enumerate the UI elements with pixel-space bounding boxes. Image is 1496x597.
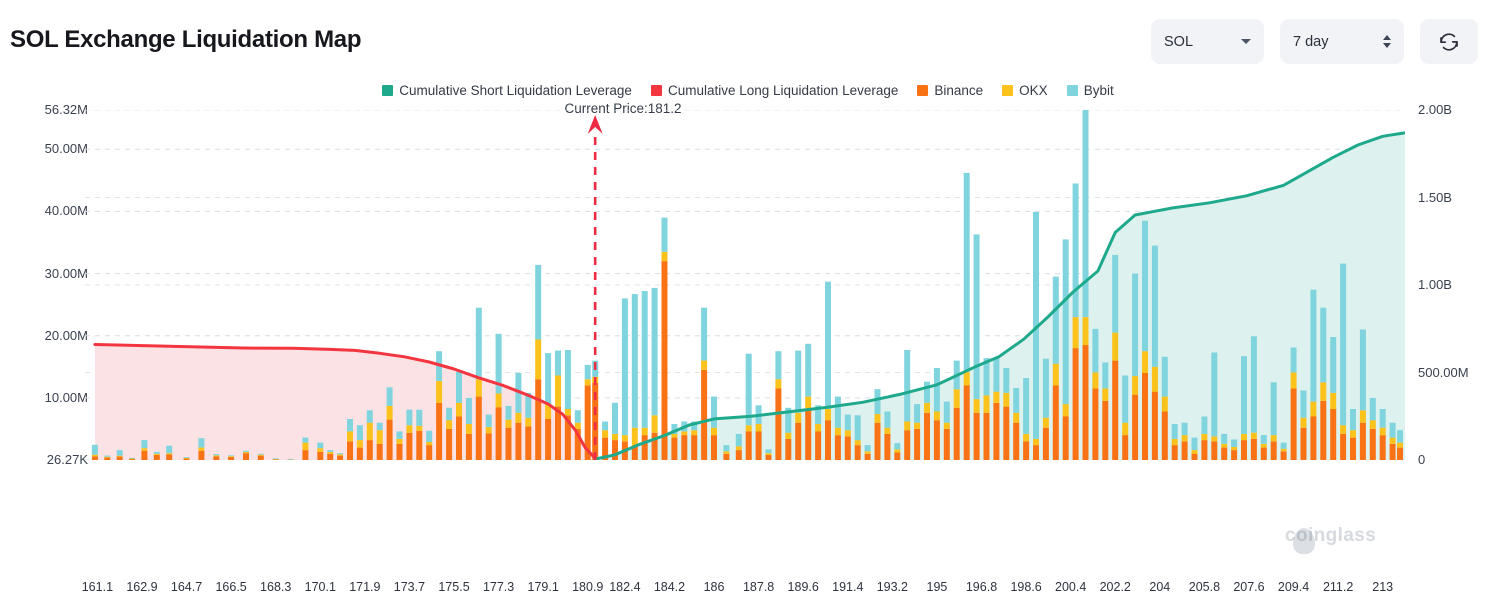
x-tick: 186 xyxy=(704,580,725,594)
bar-segment-binance xyxy=(436,403,442,460)
bar-segment-binance xyxy=(701,370,707,460)
bar-segment-okx xyxy=(805,397,811,409)
bar-segment-okx xyxy=(104,457,110,458)
bar-segment-bybit xyxy=(775,351,781,379)
bar-segment-binance xyxy=(1291,389,1297,461)
bar-segment-binance xyxy=(486,433,492,460)
bar-segment-binance xyxy=(845,436,851,460)
bar-segment-okx xyxy=(1360,410,1366,422)
bar-segment-okx xyxy=(845,430,851,436)
bar-segment-okx xyxy=(1122,423,1128,435)
bar-segment-okx xyxy=(1320,382,1326,401)
legend-swatch-icon xyxy=(917,85,928,96)
bar-segment-binance xyxy=(1023,441,1029,460)
bar-segment-binance xyxy=(1063,417,1069,461)
bar-segment-bybit xyxy=(632,294,638,428)
bar-segment-okx xyxy=(387,406,393,420)
bar-segment-bybit xyxy=(1251,336,1257,432)
bar-segment-binance xyxy=(397,444,403,460)
bar-segment-okx xyxy=(184,458,190,459)
bar-segment-binance xyxy=(426,445,432,460)
bar-segment-bybit xyxy=(1102,362,1108,388)
bar-segment-okx xyxy=(865,451,871,454)
bar-segment-bybit xyxy=(855,415,861,440)
bar-segment-okx xyxy=(701,361,707,370)
bar-segment-binance xyxy=(1241,440,1247,460)
bar-segment-okx xyxy=(691,430,697,435)
bar-segment-okx xyxy=(1182,435,1188,441)
legend-label: Bybit xyxy=(1084,83,1114,98)
bar-segment-binance xyxy=(1033,445,1039,460)
bar-segment-binance xyxy=(671,438,677,460)
bar-segment-binance xyxy=(691,435,697,460)
bar-segment-okx xyxy=(1192,450,1198,454)
time-range-spinner[interactable]: 7 day xyxy=(1280,19,1404,64)
bar-segment-binance xyxy=(894,453,900,461)
bar-segment-okx xyxy=(984,395,990,412)
symbol-select[interactable]: SOL xyxy=(1151,19,1264,64)
bar-segment-okx xyxy=(1201,434,1207,440)
x-tick: 179.1 xyxy=(528,580,559,594)
bar-segment-okx xyxy=(746,425,752,431)
bar-segment-binance xyxy=(515,423,521,460)
bar-segment-binance xyxy=(964,385,970,460)
bar-segment-bybit xyxy=(198,438,204,447)
bar-segment-okx xyxy=(198,448,204,451)
bar-segment-bybit xyxy=(642,291,648,428)
bar-segment-binance xyxy=(1192,454,1198,460)
x-tick: 166.5 xyxy=(215,580,246,594)
x-tick: 187.8 xyxy=(743,580,774,594)
bar-segment-binance xyxy=(875,423,881,460)
liquidation-map-page: SOL Exchange Liquidation Map SOL 7 day xyxy=(0,0,1496,597)
bar-segment-binance xyxy=(944,429,950,460)
bar-segment-binance xyxy=(766,455,772,460)
y-right-tick: 0 xyxy=(1418,452,1425,467)
bar-segment-okx xyxy=(397,439,403,444)
bar-segment-bybit xyxy=(302,438,308,443)
bar-segment-bybit xyxy=(1132,274,1138,377)
bar-segment-binance xyxy=(984,413,990,460)
bar-segment-bybit xyxy=(1330,337,1336,393)
bar-segment-bybit xyxy=(1192,438,1198,450)
bar-segment-binance xyxy=(1271,441,1277,460)
bar-segment-bybit xyxy=(243,451,249,452)
bar-segment-binance xyxy=(1350,438,1356,460)
bar-segment-binance xyxy=(865,454,871,460)
bar-segment-binance xyxy=(506,428,512,460)
bar-segment-binance xyxy=(1301,428,1307,460)
bar-segment-bybit xyxy=(184,457,190,458)
bar-segment-bybit xyxy=(506,406,512,420)
bar-segment-bybit xyxy=(1301,390,1307,417)
bar-segment-binance xyxy=(1221,448,1227,460)
y-right-tick: 2.00B xyxy=(1418,102,1452,117)
bar-segment-bybit xyxy=(1390,423,1396,438)
bar-segment-binance xyxy=(198,451,204,460)
bar-segment-okx xyxy=(671,434,677,438)
bar-segment-bybit xyxy=(406,410,412,426)
bar-segment-okx xyxy=(1301,418,1307,428)
bar-segment-binance xyxy=(1073,348,1079,460)
bar-segment-okx xyxy=(954,389,960,408)
bar-segment-okx xyxy=(681,431,687,435)
bar-segment-okx xyxy=(406,425,412,433)
x-tick: 191.4 xyxy=(832,580,863,594)
liquidation-plot xyxy=(85,110,1405,460)
x-tick: 196.8 xyxy=(966,580,997,594)
bar-segment-binance xyxy=(805,409,811,460)
bar-segment-okx xyxy=(1092,372,1098,388)
bar-segment-binance xyxy=(815,431,821,460)
x-tick: 161.1 xyxy=(82,580,113,594)
bar-segment-bybit xyxy=(416,410,422,426)
bar-segment-binance xyxy=(993,403,999,460)
legend-label: Cumulative Long Liquidation Leverage xyxy=(668,83,898,98)
bar-segment-binance xyxy=(104,458,110,461)
legend-item-2[interactable]: Binance xyxy=(917,83,983,98)
bar-segment-okx xyxy=(535,339,541,379)
bar-segment-binance xyxy=(92,456,98,460)
bar-segment-bybit xyxy=(387,387,393,406)
bar-segment-binance xyxy=(1330,409,1336,460)
bar-segment-bybit xyxy=(466,398,472,424)
bar-segment-binance xyxy=(337,456,343,460)
spinner-up-icon[interactable] xyxy=(1383,35,1391,40)
bar-segment-bybit xyxy=(397,431,403,439)
bar-segment-bybit xyxy=(1063,239,1069,404)
bar-segment-bybit xyxy=(337,453,343,454)
bar-segment-bybit xyxy=(1221,434,1227,444)
bar-segment-binance xyxy=(775,389,781,461)
bar-segment-binance xyxy=(154,455,160,460)
bar-segment-okx xyxy=(1221,444,1227,448)
x-tick: 184.2 xyxy=(654,580,685,594)
bar-segment-bybit xyxy=(535,265,541,340)
bar-segment-okx xyxy=(993,392,999,403)
x-tick: 177.3 xyxy=(483,580,514,594)
bar-segment-okx xyxy=(914,423,920,429)
bar-segment-okx xyxy=(1043,418,1049,428)
bar-segment-binance xyxy=(377,444,383,460)
bar-segment-okx xyxy=(585,379,591,385)
bar-segment-binance xyxy=(317,452,323,460)
bar-segment-binance xyxy=(1003,407,1009,460)
bar-segment-bybit xyxy=(914,404,920,423)
bar-segment-okx xyxy=(964,372,970,386)
x-tick: 204 xyxy=(1149,580,1170,594)
bar-segment-bybit xyxy=(766,449,772,453)
bar-segment-binance xyxy=(1053,385,1059,460)
bar-segment-okx xyxy=(662,252,668,261)
bar-segment-okx xyxy=(602,430,608,438)
bar-segment-binance xyxy=(746,431,752,460)
bar-segment-okx xyxy=(612,434,618,440)
y-left-tick: 20.00M xyxy=(45,328,88,343)
bar-segment-binance xyxy=(166,454,172,460)
bar-segment-bybit xyxy=(1083,110,1089,317)
bar-segment-binance xyxy=(1360,423,1366,460)
bar-segment-okx xyxy=(476,379,482,396)
bar-segment-okx xyxy=(496,394,502,408)
bar-segment-okx xyxy=(1380,428,1386,436)
bar-segment-binance xyxy=(525,426,531,460)
bar-segment-bybit xyxy=(1211,353,1217,437)
bar-segment-okx xyxy=(1350,430,1356,438)
bar-segment-bybit xyxy=(652,288,658,415)
bar-segment-binance xyxy=(1201,440,1207,460)
bar-segment-okx xyxy=(1023,434,1029,442)
bar-segment-okx xyxy=(1152,367,1158,392)
bar-segment-okx xyxy=(515,413,521,423)
bar-segment-binance xyxy=(795,423,801,460)
bar-segment-bybit xyxy=(104,456,110,457)
bar-segment-binance xyxy=(1211,441,1217,460)
bar-segment-binance xyxy=(117,457,123,460)
bar-segment-bybit xyxy=(964,173,970,372)
bar-segment-binance xyxy=(855,445,861,460)
bar-segment-bybit xyxy=(1142,221,1148,352)
bar-segment-okx xyxy=(1102,389,1108,401)
bar-segment-bybit xyxy=(1112,255,1118,333)
bar-segment-okx xyxy=(711,428,717,436)
bar-segment-binance xyxy=(642,435,648,460)
legend-label: Cumulative Short Liquidation Leverage xyxy=(399,83,632,98)
bar-segment-okx xyxy=(1132,376,1138,395)
bar-segment-bybit xyxy=(701,308,707,361)
bar-segment-binance xyxy=(1092,389,1098,461)
legend-item-1[interactable]: Cumulative Long Liquidation Leverage xyxy=(651,83,898,98)
bar-segment-binance xyxy=(367,440,373,460)
x-tick: 168.3 xyxy=(260,580,291,594)
bar-segment-binance xyxy=(904,430,910,460)
coinglass-logo-icon xyxy=(1293,528,1315,554)
legend-swatch-icon xyxy=(382,85,393,96)
bar-segment-okx xyxy=(642,428,648,436)
bar-segment-okx xyxy=(327,452,333,454)
bar-segment-bybit xyxy=(1092,329,1098,373)
bar-segment-binance xyxy=(1370,429,1376,460)
bar-segment-bybit xyxy=(1281,443,1287,449)
bar-segment-bybit xyxy=(1380,409,1386,428)
bar-segment-okx xyxy=(555,376,561,407)
bar-segment-bybit xyxy=(273,458,279,459)
bar-segment-okx xyxy=(1003,393,1009,407)
bar-segment-binance xyxy=(662,261,668,460)
bar-segment-okx xyxy=(1073,317,1079,348)
bar-segment-okx xyxy=(1162,397,1168,412)
bar-segment-okx xyxy=(228,456,234,457)
bar-segment-binance xyxy=(835,435,841,460)
bar-segment-binance xyxy=(681,435,687,460)
bar-segment-binance xyxy=(466,434,472,460)
bar-segment-binance xyxy=(1231,450,1237,460)
legend-swatch-icon xyxy=(1002,85,1013,96)
y-left-tick: 26.27K xyxy=(47,452,88,467)
bar-segment-okx xyxy=(575,423,581,429)
bar-segment-okx xyxy=(894,449,900,452)
bar-segment-okx xyxy=(934,412,940,421)
bar-segment-binance xyxy=(1182,441,1188,460)
bar-segment-bybit xyxy=(377,423,383,431)
bar-segment-bybit xyxy=(805,344,811,397)
watermark: coinglass xyxy=(1285,525,1376,547)
bar-segment-okx xyxy=(416,426,422,431)
bar-segment-bybit xyxy=(92,445,98,455)
legend-item-3[interactable]: OKX xyxy=(1002,83,1048,98)
bar-segment-bybit xyxy=(795,351,801,413)
bar-segment-okx xyxy=(258,455,264,456)
x-tick: 173.7 xyxy=(394,580,425,594)
bar-segment-bybit xyxy=(1122,376,1128,423)
bar-segment-okx xyxy=(117,456,123,457)
time-range-value: 7 day xyxy=(1293,34,1328,50)
legend-item-0[interactable]: Cumulative Short Liquidation Leverage xyxy=(382,83,632,98)
x-tick: 189.6 xyxy=(788,580,819,594)
chevron-down-icon xyxy=(1241,39,1251,44)
bar-segment-bybit xyxy=(865,445,871,451)
bar-segment-binance xyxy=(1320,401,1326,460)
bar-segment-okx xyxy=(1211,436,1217,441)
bar-segment-okx xyxy=(317,448,323,452)
bar-segment-binance xyxy=(756,431,762,460)
bar-segment-binance xyxy=(1281,451,1287,460)
bar-segment-okx xyxy=(141,448,147,451)
bar-segment-bybit xyxy=(1370,398,1376,420)
bar-segment-binance xyxy=(213,456,219,460)
bar-segment-bybit xyxy=(1201,417,1207,434)
refresh-button[interactable] xyxy=(1420,19,1478,64)
bar-segment-bybit xyxy=(456,372,462,403)
bar-segment-binance xyxy=(357,448,363,460)
bar-segment-binance xyxy=(974,413,980,460)
y-left-tick: 10.00M xyxy=(45,390,88,405)
bar-segment-bybit xyxy=(426,431,432,442)
legend-item-4[interactable]: Bybit xyxy=(1067,83,1114,98)
bar-segment-okx xyxy=(1063,404,1069,416)
bar-segment-binance xyxy=(612,440,618,460)
bar-segment-okx xyxy=(1340,425,1346,434)
bar-segment-binance xyxy=(1380,435,1386,460)
bar-segment-bybit xyxy=(327,450,333,452)
bar-segment-okx xyxy=(815,424,821,432)
bar-segment-binance xyxy=(1122,435,1128,460)
bar-segment-binance xyxy=(785,439,791,460)
bar-segment-okx xyxy=(1261,444,1267,448)
bar-segment-bybit xyxy=(1023,378,1029,434)
x-tick: 162.9 xyxy=(126,580,157,594)
bar-segment-okx xyxy=(92,455,98,457)
bar-segment-okx xyxy=(1310,402,1316,417)
bar-segment-binance xyxy=(934,420,940,460)
bar-segment-bybit xyxy=(845,415,851,431)
bar-segment-okx xyxy=(1330,393,1336,409)
y-right-tick: 1.00B xyxy=(1418,277,1452,292)
x-tick: 193.2 xyxy=(877,580,908,594)
bar-segment-okx xyxy=(652,415,658,432)
bar-segment-binance xyxy=(1083,345,1089,460)
x-tick: 170.1 xyxy=(305,580,336,594)
x-tick: 164.7 xyxy=(171,580,202,594)
bar-segment-binance xyxy=(1310,417,1316,461)
bar-segment-bybit xyxy=(1073,184,1079,318)
bar-segment-okx xyxy=(1112,333,1118,361)
bar-segment-binance xyxy=(476,397,482,460)
bar-segment-bybit xyxy=(1241,356,1247,434)
spinner-updown-icon[interactable] xyxy=(1383,35,1391,48)
bar-segment-binance xyxy=(884,434,890,460)
bar-segment-binance xyxy=(416,431,422,460)
bar-segment-okx xyxy=(944,423,950,429)
bar-segment-okx xyxy=(565,409,571,415)
bar-segment-binance xyxy=(1390,444,1396,460)
bar-segment-okx xyxy=(466,424,472,434)
refresh-icon xyxy=(1438,31,1460,53)
bar-segment-bybit xyxy=(1350,409,1356,430)
bar-segment-bybit xyxy=(875,389,881,414)
legend-label: OKX xyxy=(1019,83,1048,98)
x-tick: 195 xyxy=(926,580,947,594)
bar-segment-okx xyxy=(622,435,628,441)
bar-segment-bybit xyxy=(446,408,452,420)
x-tick: 209.4 xyxy=(1278,580,1309,594)
bar-segment-binance xyxy=(825,420,831,460)
x-tick: 175.5 xyxy=(438,580,469,594)
bar-segment-bybit xyxy=(166,446,172,454)
bar-segment-bybit xyxy=(723,445,729,451)
bar-segment-bybit xyxy=(974,234,980,399)
bar-segment-binance xyxy=(456,417,462,461)
bar-segment-binance xyxy=(924,413,930,460)
bar-segment-okx xyxy=(795,413,801,423)
x-tick: 207.6 xyxy=(1233,580,1264,594)
bar-segment-binance xyxy=(545,419,551,460)
bar-segment-okx xyxy=(1271,435,1277,441)
bar-segment-okx xyxy=(974,399,980,413)
y-left-tick: 40.00M xyxy=(45,203,88,218)
bar-segment-okx xyxy=(924,403,930,413)
bar-segment-okx xyxy=(835,428,841,436)
bar-segment-bybit xyxy=(924,382,930,403)
bar-segment-bybit xyxy=(565,350,571,409)
bar-segment-bybit xyxy=(622,298,628,435)
bar-segment-okx xyxy=(1053,364,1059,386)
bar-segment-okx xyxy=(486,427,492,433)
bar-segment-okx xyxy=(1281,449,1287,452)
bar-segment-okx xyxy=(904,422,910,431)
bar-segment-binance xyxy=(914,429,920,460)
bar-segment-binance xyxy=(406,433,412,460)
y-right-tick: 500.00M xyxy=(1418,365,1469,380)
spinner-down-icon[interactable] xyxy=(1383,43,1391,48)
bar-segment-bybit xyxy=(1152,246,1158,367)
bar-segment-bybit xyxy=(662,218,668,252)
bar-segment-okx xyxy=(855,440,861,445)
bar-segment-bybit xyxy=(555,351,561,376)
bar-segment-bybit xyxy=(129,458,135,459)
bar-segment-okx xyxy=(1370,420,1376,429)
bar-segment-bybit xyxy=(154,452,160,454)
x-tick: 198.6 xyxy=(1010,580,1041,594)
bar-segment-binance xyxy=(1172,445,1178,460)
bar-segment-binance xyxy=(711,435,717,460)
x-tick: 182.4 xyxy=(609,580,640,594)
bar-segment-okx xyxy=(1083,317,1089,345)
bar-segment-bybit xyxy=(486,415,492,427)
bar-segment-binance xyxy=(387,420,393,460)
bar-segment-okx xyxy=(436,381,442,403)
x-tick: 171.9 xyxy=(349,580,380,594)
